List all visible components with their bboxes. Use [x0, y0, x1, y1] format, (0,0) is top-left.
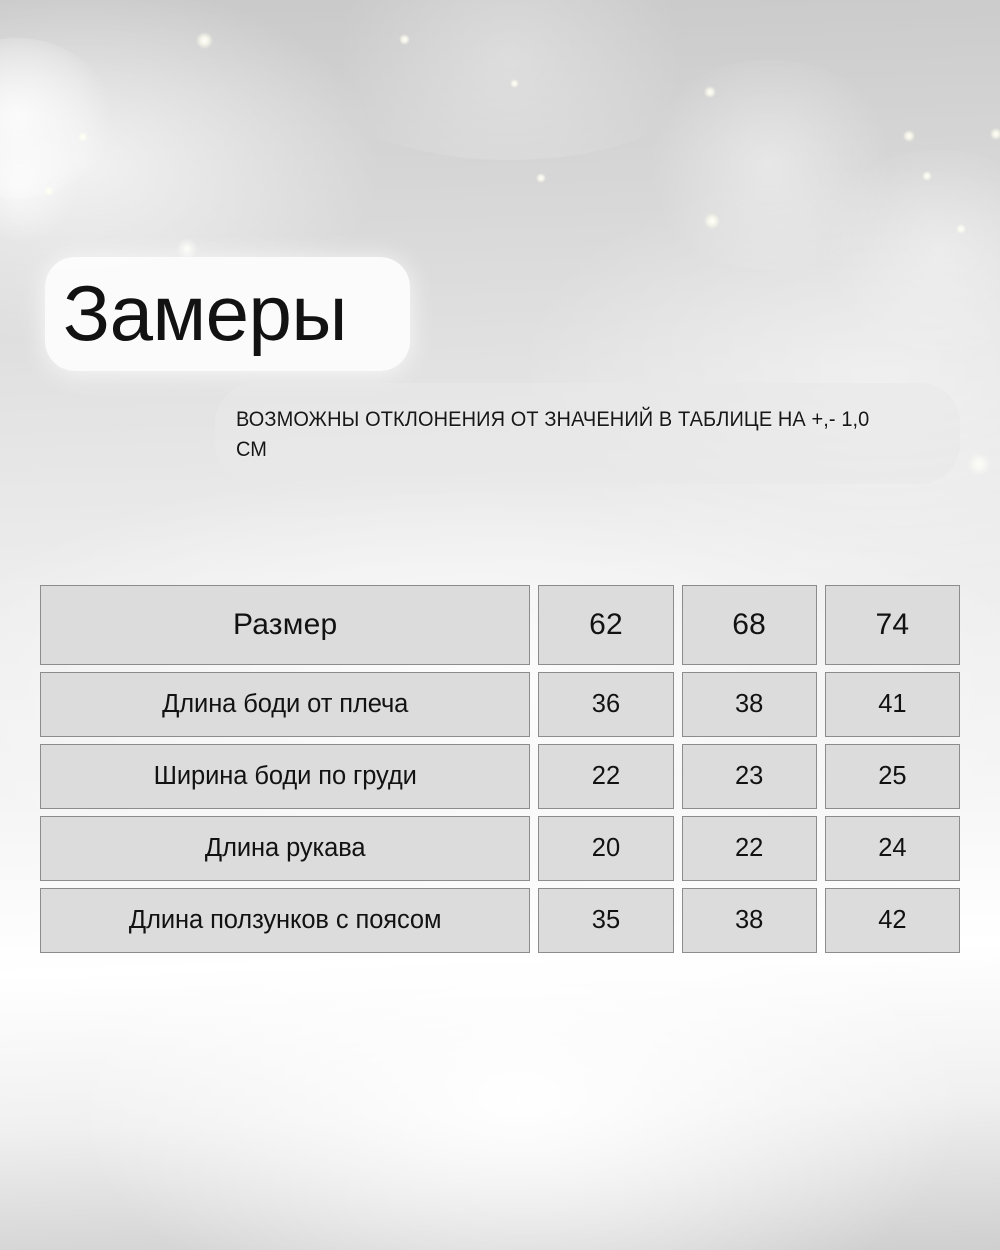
table-body: Длина боди от плеча 36 38 41 Ширина боди…	[40, 672, 960, 953]
cell-value: 22	[682, 816, 817, 881]
cell-value: 23	[682, 744, 817, 809]
spark-dot-6	[536, 173, 546, 183]
table-header-row: Размер 62 68 74	[40, 585, 960, 665]
column-header-68: 68	[682, 585, 817, 665]
cell-value: 36	[538, 672, 673, 737]
spark-dot-2	[399, 34, 410, 45]
spark-dot-3	[510, 79, 519, 88]
row-label: Длина рукава	[40, 816, 530, 881]
table-row: Ширина боди по груди 22 23 25	[40, 744, 960, 809]
cell-value: 25	[825, 744, 960, 809]
spark-dot-1	[196, 32, 213, 49]
size-chart-table: Размер 62 68 74 Длина боди от плеча 36 3…	[32, 578, 968, 960]
table-row: Длина рукава 20 22 24	[40, 816, 960, 881]
poster-canvas: Замеры ВОЗМОЖНЫ ОТКЛОНЕНИЯ ОТ ЗНАЧЕНИЙ В…	[0, 0, 1000, 1250]
row-label: Длина ползунков с поясом	[40, 888, 530, 953]
bokeh-blob-top-haze	[300, 0, 720, 160]
page-title: Замеры	[63, 265, 403, 361]
table-row: Длина боди от плеча 36 38 41	[40, 672, 960, 737]
cell-value: 41	[825, 672, 960, 737]
column-header-size-label: Размер	[40, 585, 530, 665]
spark-dot-5	[903, 130, 915, 142]
spark-dot-8	[990, 128, 1000, 140]
table-row: Длина ползунков с поясом 35 38 42	[40, 888, 960, 953]
column-header-62: 62	[538, 585, 673, 665]
cell-value: 38	[682, 888, 817, 953]
row-label: Длина боди от плеча	[40, 672, 530, 737]
cell-value: 42	[825, 888, 960, 953]
bokeh-blob-left-large	[0, 38, 112, 198]
row-label: Ширина боди по груди	[40, 744, 530, 809]
spark-dot-11	[956, 224, 966, 234]
spark-dot-15	[44, 186, 54, 196]
spark-dot-4	[704, 86, 716, 98]
spark-dot-10	[704, 213, 720, 229]
column-header-74: 74	[825, 585, 960, 665]
cell-value: 24	[825, 816, 960, 881]
cell-value: 20	[538, 816, 673, 881]
bokeh-blob-right-soft	[820, 150, 1000, 350]
spark-dot-7	[78, 132, 88, 142]
cell-value: 22	[538, 744, 673, 809]
cell-value: 38	[682, 672, 817, 737]
measurement-tolerance-note: ВОЗМОЖНЫ ОТКЛОНЕНИЯ ОТ ЗНАЧЕНИЙ В ТАБЛИЦ…	[236, 404, 900, 464]
spark-dot-13	[967, 452, 991, 476]
spark-dot-9	[922, 171, 932, 181]
bokeh-blob-left-small	[0, 130, 80, 240]
bokeh-blob-center-soft	[640, 60, 900, 270]
cell-value: 35	[538, 888, 673, 953]
